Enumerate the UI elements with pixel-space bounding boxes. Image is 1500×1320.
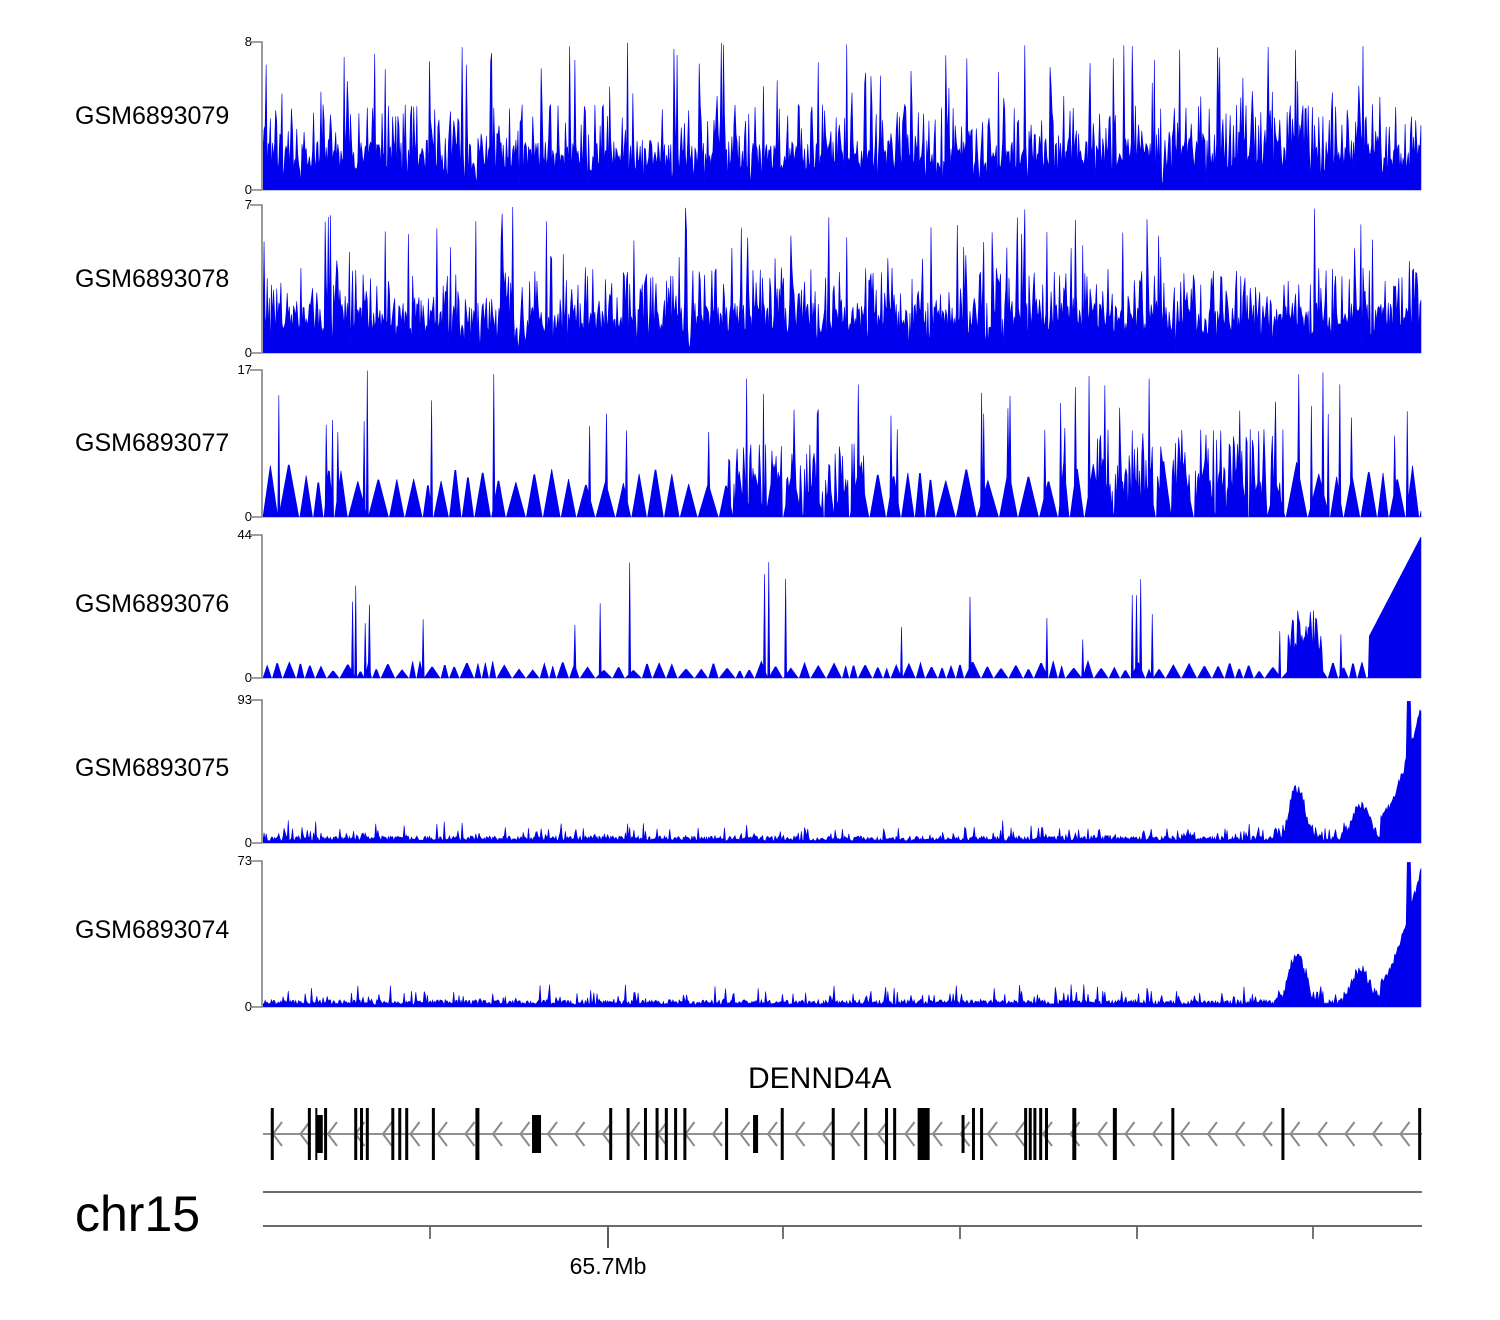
gene-model-track[interactable] [263,1100,1428,1168]
gene-exon [1039,1108,1042,1160]
gene-exon [644,1108,647,1160]
gene-exon [674,1108,677,1160]
gene-exon [725,1108,728,1160]
gene-exon [1281,1108,1284,1160]
track-label: GSM6893076 [75,590,229,619]
track-label: GSM6893074 [75,916,229,945]
gene-exon [781,1108,784,1160]
coverage-area [263,861,1422,1008]
gene-exon [972,1108,975,1160]
gene-exon [1024,1108,1027,1160]
coverage-area [263,370,1422,518]
track-label: GSM6893075 [75,754,229,783]
gene-exon [656,1108,659,1160]
y-axis [248,40,278,192]
axis-min-label: 0 [226,509,252,524]
gene-exon [366,1108,369,1160]
gene-exon [405,1108,408,1160]
y-axis [248,859,278,1009]
chromosome-ruler[interactable] [263,1186,1428,1256]
gene-exon [317,1115,323,1153]
ruler-tick-label: 65.7Mb [553,1253,663,1280]
gene-exon [1171,1108,1174,1160]
gene-exon [683,1108,686,1160]
gene-exon [918,1108,930,1160]
gene-exon [1418,1108,1421,1160]
gene-exon [885,1108,888,1160]
coverage-area [263,535,1422,679]
axis-min-label: 0 [226,835,252,850]
gene-name-label: DENND4A [748,1062,891,1096]
gene-exon [627,1108,630,1160]
gene-exon [354,1108,357,1160]
axis-min-label: 0 [226,182,252,197]
gene-exon [1045,1108,1048,1160]
y-axis [248,203,278,355]
gene-exon [432,1108,435,1160]
gene-exon [391,1108,394,1160]
track-label: GSM6893078 [75,265,229,294]
gene-exon [315,1108,317,1160]
gene-exon [1029,1108,1032,1160]
gene-exon [1113,1108,1117,1160]
coverage-track-gsm6893077: GSM6893077170 [0,0,1500,1320]
y-axis [248,533,278,680]
coverage-track-gsm6893075: GSM6893075930 [0,0,1500,1320]
coverage-track-gsm6893078: GSM689307870 [0,0,1500,1320]
coverage-area [263,700,1422,844]
gene-exon [665,1108,668,1160]
axis-max-label: 17 [226,362,252,377]
gene-exon [832,1108,835,1160]
track-label: GSM6893079 [75,102,229,131]
gene-exon [324,1108,327,1160]
coverage-area [263,205,1422,354]
gene-exon [360,1108,363,1160]
axis-max-label: 93 [226,692,252,707]
axis-max-label: 73 [226,853,252,868]
gene-exon [962,1115,965,1153]
gene-exon [308,1108,311,1160]
gene-exon [475,1108,479,1160]
axis-max-label: 7 [226,197,252,212]
gene-exon [980,1108,983,1160]
coverage-track-gsm6893079: GSM689307980 [0,0,1500,1320]
axis-max-label: 8 [226,34,252,49]
axis-min-label: 0 [226,999,252,1014]
coverage-track-gsm6893074: GSM6893074730 [0,0,1500,1320]
gene-exon [609,1108,612,1160]
gene-exon [893,1108,896,1160]
axis-min-label: 0 [226,345,252,360]
gene-exon [1072,1108,1076,1160]
coverage-area [263,42,1422,191]
gene-exon [398,1108,401,1160]
gene-exon [753,1115,758,1153]
genome-browser: GSM689307980GSM689307870GSM6893077170GSM… [0,0,1500,1320]
y-axis [248,698,278,845]
gene-annotation-panel: DENND4A [0,0,1500,1320]
coverage-track-gsm6893076: GSM6893076440 [0,0,1500,1320]
chromosome-label: chr15 [75,1185,200,1243]
axis-max-label: 44 [226,527,252,542]
gene-exon [1033,1108,1036,1160]
gene-exon [271,1108,274,1160]
gene-exon [864,1108,867,1160]
axis-min-label: 0 [226,670,252,685]
gene-exon [532,1115,541,1153]
track-label: GSM6893077 [75,429,229,458]
y-axis [248,368,278,519]
